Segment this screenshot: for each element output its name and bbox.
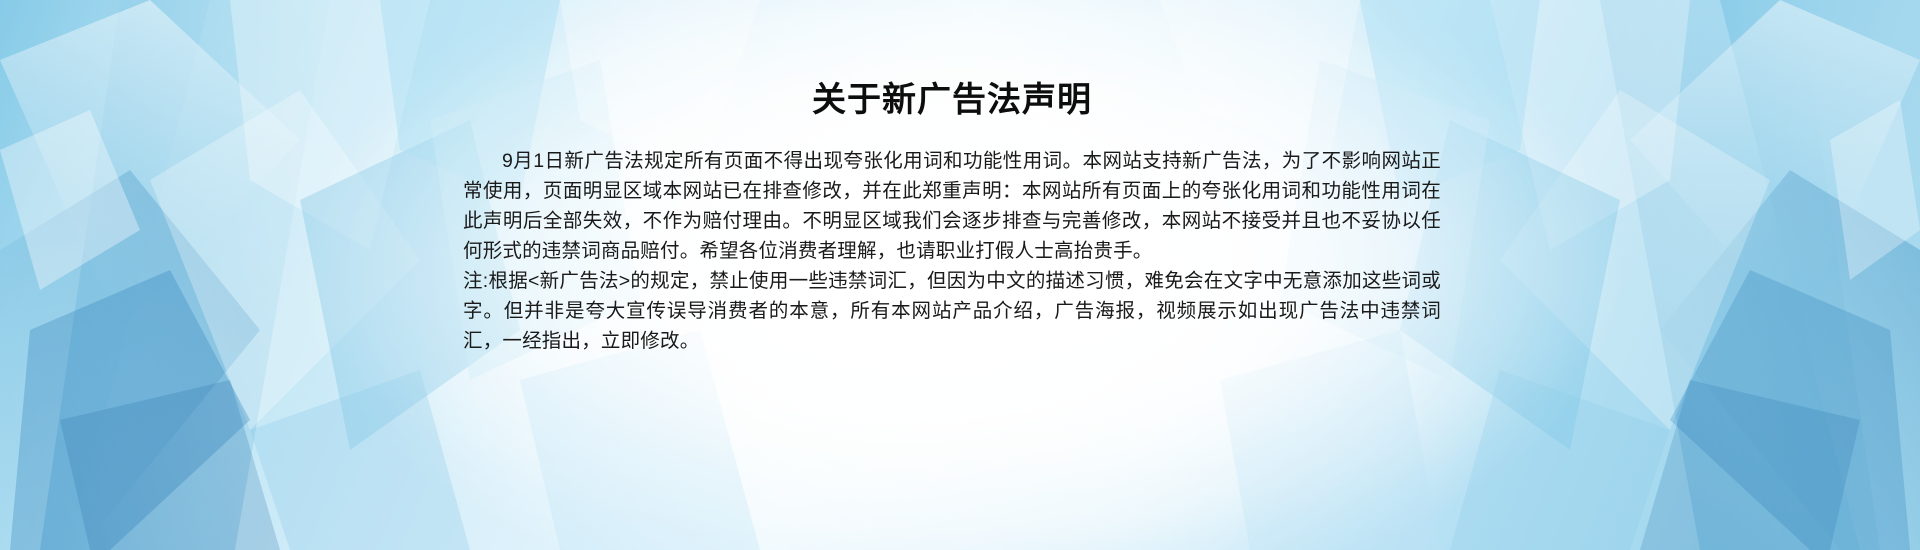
statement-paragraph-2: 注:根据<新广告法>的规定，禁止使用一些违禁词汇，但因为中文的描述习惯，难免会在… [463, 266, 1441, 356]
statement-paragraph-1: 9月1日新广告法规定所有页面不得出现夸张化用词和功能性用词。本网站支持新广告法，… [463, 146, 1441, 266]
banner-image: 关于新广告法声明 9月1日新广告法规定所有页面不得出现夸张化用词和功能性用词。本… [0, 0, 1920, 550]
page-title: 关于新广告法声明 [463, 78, 1441, 122]
statement-content: 关于新广告法声明 9月1日新广告法规定所有页面不得出现夸张化用词和功能性用词。本… [463, 78, 1441, 356]
